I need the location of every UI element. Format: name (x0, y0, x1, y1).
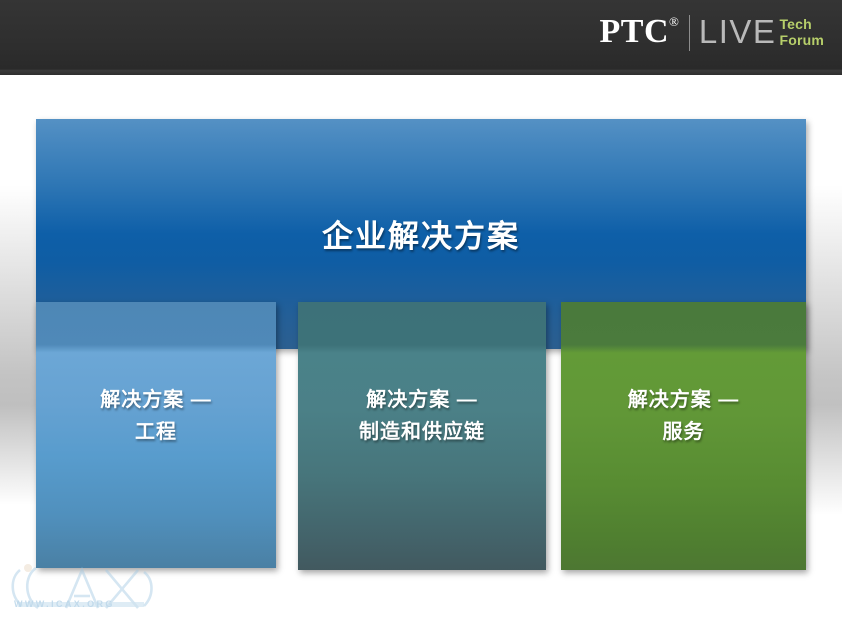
solution-box-service[interactable]: 解决方案 — 服务 (561, 302, 806, 570)
solution-box-manufacturing-supply-chain-label: 解决方案 — 制造和供应链 (298, 384, 546, 448)
solution-box-engineering[interactable]: 解决方案 — 工程 (36, 302, 276, 568)
ptc-live-tech-forum-logo: PTC® LIVE Tech Forum (600, 15, 825, 55)
solution-label-line-2: 服务 (561, 416, 806, 448)
solution-label-line-1: 解决方案 — (36, 384, 276, 416)
left-edge-shade (0, 75, 40, 618)
registered-trademark-icon: ® (669, 14, 679, 29)
top-header-bar: PTC® LIVE Tech Forum (0, 0, 842, 75)
slide-canvas: PTC® LIVE Tech Forum 企业解决方案 解决方案 — 工程 解决… (0, 0, 842, 618)
solution-label-line-1: 解决方案 — (298, 384, 546, 416)
forum-text: Forum (779, 32, 824, 48)
solution-box-engineering-label: 解决方案 — 工程 (36, 384, 276, 448)
ptc-brand-text: PTC (600, 13, 670, 50)
icax-watermark-caption: WWW.ICAX.ORG (14, 599, 115, 609)
tech-text: Tech (779, 16, 824, 32)
solution-box-manufacturing-supply-chain[interactable]: 解决方案 — 制造和供应链 (298, 302, 546, 570)
solution-label-line-2: 制造和供应链 (298, 416, 546, 448)
solution-label-line-1: 解决方案 — (561, 384, 806, 416)
ptc-wordmark: PTC® (600, 15, 679, 49)
live-wordmark: LIVE (699, 15, 777, 49)
solution-box-service-label: 解决方案 — 服务 (561, 384, 806, 448)
solution-label-line-2: 工程 (36, 416, 276, 448)
logo-divider (689, 15, 690, 51)
banner-title: 企业解决方案 (36, 211, 806, 256)
tech-forum-wordmark: Tech Forum (779, 16, 824, 48)
